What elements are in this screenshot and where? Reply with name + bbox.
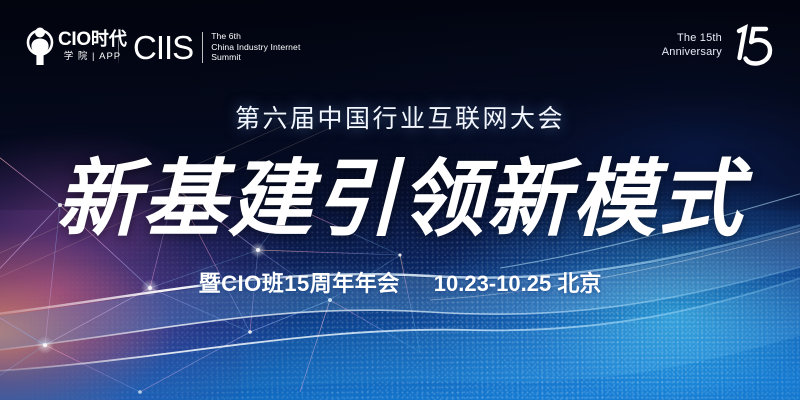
event-date-city: 10.23-10.25 北京 bbox=[434, 266, 602, 298]
ciis-divider bbox=[202, 32, 203, 63]
anniversary-text: The 15th Anniversary bbox=[662, 31, 722, 59]
event-name: 暨CIO班15周年年会 bbox=[199, 266, 400, 298]
logo-ciis[interactable]: CIIS The 6th China Industry Internet Sum… bbox=[133, 27, 300, 67]
conference-banner: CIO时代 学 院 | APP CIIS The 6th China Indus… bbox=[0, 0, 800, 400]
ciis-wordmark: CIIS bbox=[133, 31, 193, 64]
logo-divider bbox=[118, 27, 119, 65]
cio-logo-line1: CIO时代 bbox=[58, 30, 127, 49]
headline-calligraphy: 新基建引领新模式 bbox=[0, 132, 800, 252]
cio-logo-line2: 学 院 | APP bbox=[58, 51, 127, 62]
anniversary-badge: The 15th Anniversary bbox=[662, 22, 782, 68]
logo-cio-shidai[interactable]: CIO时代 学 院 | APP bbox=[25, 25, 127, 67]
event-details: 暨CIO班15周年年会 10.23-10.25 北京 bbox=[0, 266, 800, 298]
ciis-subtitle: The 6th China Industry Internet Summit bbox=[211, 31, 300, 63]
anniversary-number-15 bbox=[726, 22, 782, 68]
conference-subtitle: 第六届中国行业互联网大会 bbox=[0, 99, 800, 135]
headline-calligraphy-text: 新基建引领新模式 bbox=[0, 132, 800, 252]
cio-person-pin-icon bbox=[25, 26, 55, 66]
banner-header: CIO时代 学 院 | APP CIIS The 6th China Indus… bbox=[0, 0, 800, 86]
